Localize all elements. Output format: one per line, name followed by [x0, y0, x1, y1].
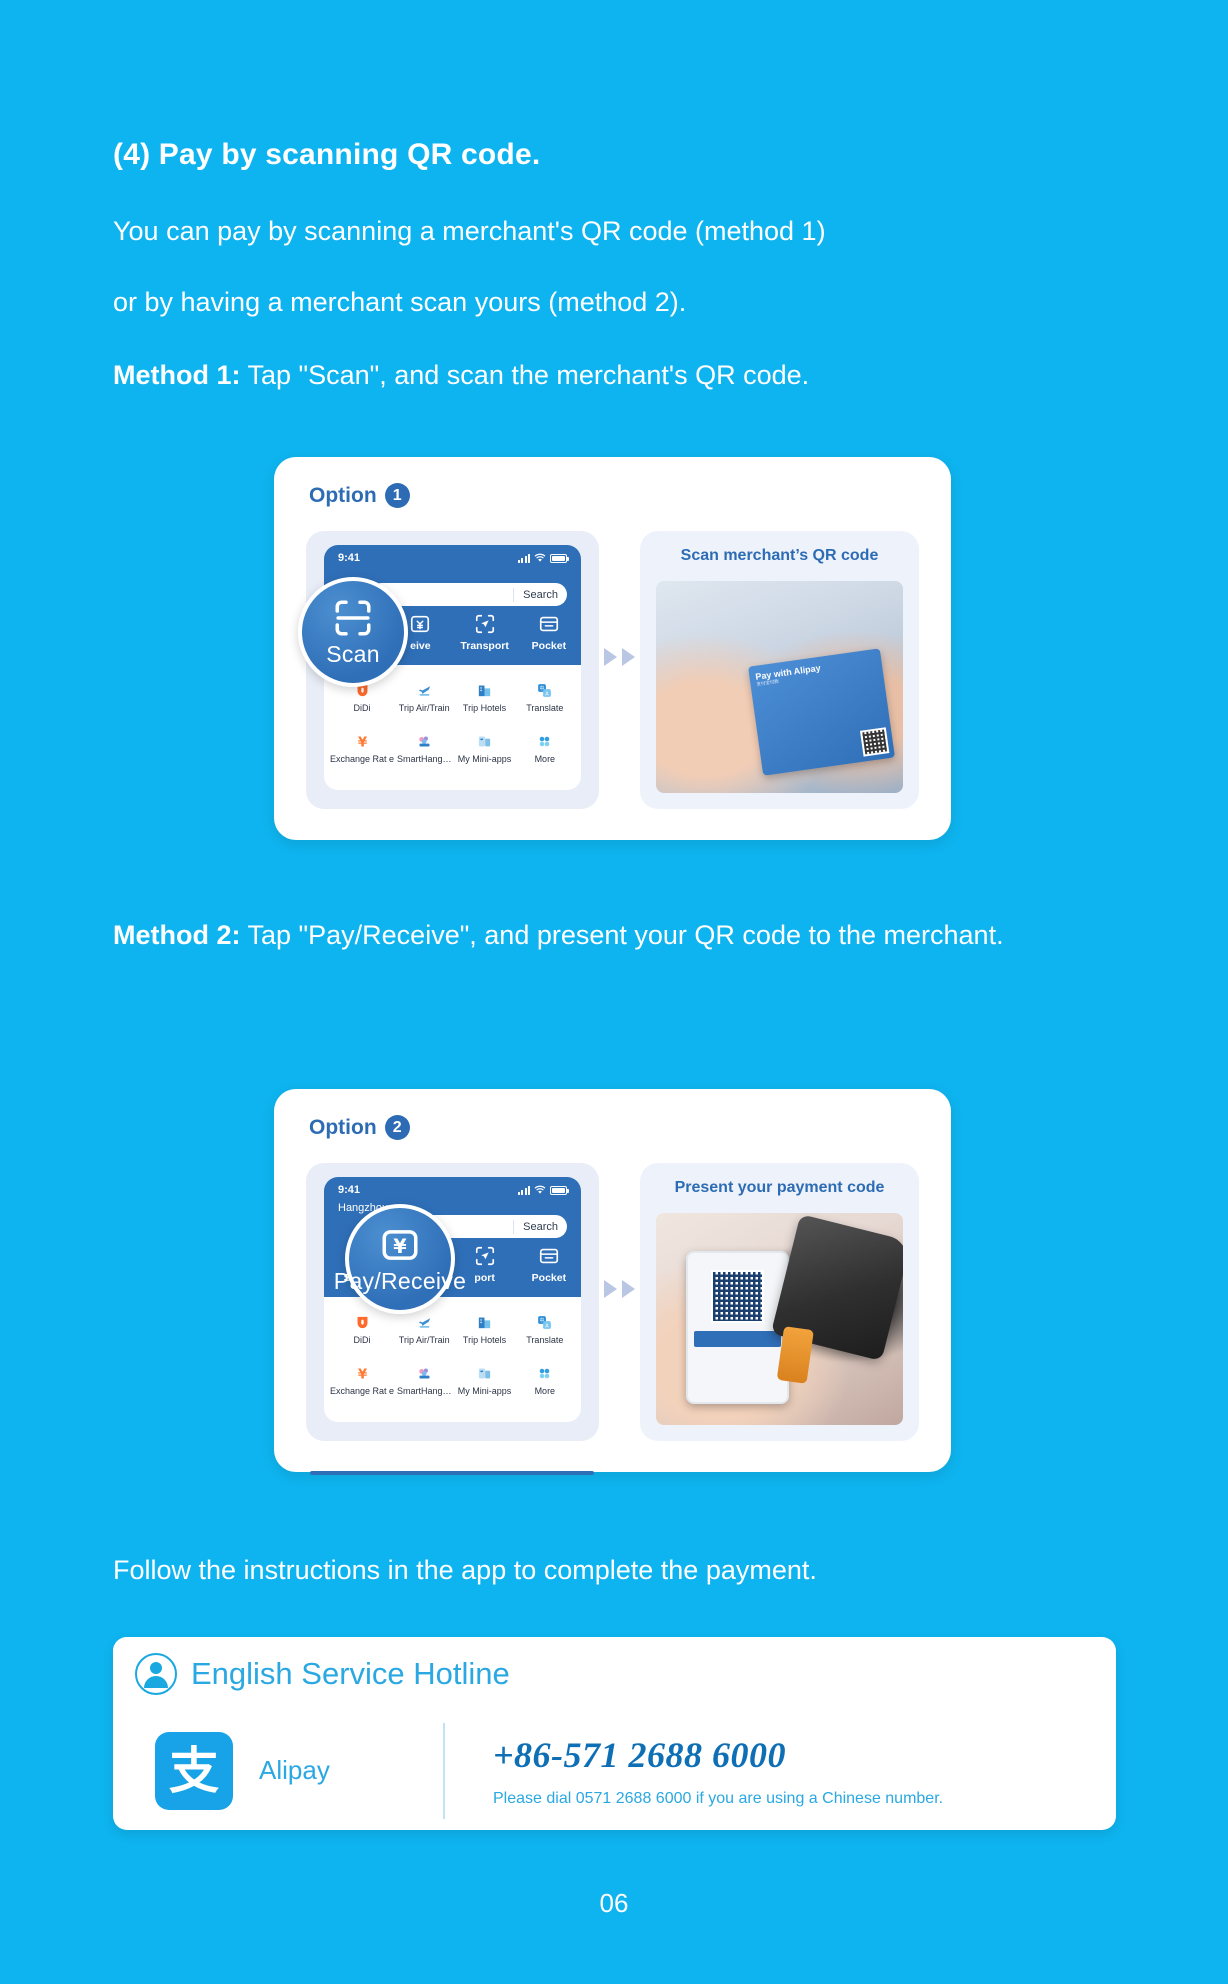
- barcode-scanner-icon: [771, 1214, 903, 1361]
- option2-pay-receive-bubble[interactable]: ¥ Pay/Receive: [345, 1204, 455, 1314]
- intro-line-2: or by having a merchant scan yours (meth…: [113, 267, 1118, 338]
- option2-badge: 2: [385, 1115, 410, 1140]
- wifi-icon: [534, 553, 546, 563]
- option2-label: Option: [309, 1116, 377, 1140]
- hotline-brand-group: 支 Alipay: [113, 1732, 443, 1810]
- battery-icon: [550, 1186, 567, 1195]
- signal-icon: [518, 1186, 531, 1195]
- alipay-brand-label: Alipay: [259, 1755, 330, 1786]
- intro-paragraph: You can pay by scanning a merchant's QR …: [113, 196, 1118, 338]
- trip-hotels-icon: [476, 1314, 493, 1331]
- app-exchange-rate[interactable]: ¥ Exchange Rat e: [330, 1365, 394, 1414]
- option2-app-grid: DiDi Trip Air/Train: [324, 1305, 581, 1422]
- transport-icon: [474, 613, 496, 635]
- arrow-right-icon: [604, 1280, 617, 1298]
- app-my-mini-apps-label: My Mini-apps: [458, 1386, 512, 1396]
- pocket-icon: [538, 1245, 560, 1267]
- svg-text:中: 中: [540, 685, 545, 692]
- app-trip-air-train-label: Trip Air/Train: [399, 1335, 450, 1345]
- option1-scan-bubble[interactable]: Scan: [298, 577, 408, 687]
- option2-photo-panel: Present your payment code: [640, 1163, 919, 1441]
- option1-app-grid: DiDi Trip Air/Train: [324, 673, 581, 790]
- payment-phone-bar: [694, 1331, 782, 1347]
- option1-label: Option: [309, 484, 377, 508]
- app-trip-air-train[interactable]: Trip Air/Train: [394, 1314, 454, 1363]
- svg-text:¥: ¥: [357, 1367, 367, 1382]
- quick-action-transport[interactable]: Transport: [453, 613, 517, 652]
- app-more[interactable]: More: [515, 1365, 575, 1414]
- option2-search-label: Search: [513, 1220, 567, 1234]
- hotline-header: English Service Hotline: [113, 1637, 550, 1711]
- hotline-title: English Service Hotline: [191, 1656, 510, 1692]
- app-exchange-rate-label: Exchange Rat e: [330, 1386, 394, 1396]
- pay-receive-icon: ¥: [379, 1224, 421, 1266]
- hotline-body: 支 Alipay +86-571 2688 6000 Please dial 0…: [113, 1711, 1116, 1830]
- hotline-contact-group: +86-571 2688 6000 Please dial 0571 2688 …: [445, 1734, 943, 1808]
- app-trip-air-train-label: Trip Air/Train: [399, 703, 450, 713]
- svg-text:¥: ¥: [357, 735, 367, 750]
- option2-label-group: Option 2: [309, 1115, 410, 1140]
- didi-icon: [354, 1314, 371, 1331]
- smarthangzhou-icon: [416, 733, 433, 750]
- app-smarthangzhou-label: SmartHang…: [397, 1386, 452, 1396]
- method2-paragraph: Method 2: Tap "Pay/Receive", and present…: [113, 900, 1116, 971]
- svg-text:¥: ¥: [393, 1234, 407, 1257]
- option1-flow-arrows: [604, 648, 635, 666]
- battery-icon: [550, 554, 567, 563]
- method2-text: Tap "Pay/Receive", and present your QR c…: [241, 920, 1004, 950]
- hotline-note: Please dial 0571 2688 6000 if you are us…: [493, 1790, 943, 1808]
- quick-action-pocket-label: Pocket: [532, 1272, 566, 1284]
- quick-action-pocket[interactable]: Pocket: [517, 1245, 581, 1284]
- payment-qr-icon: [711, 1270, 764, 1323]
- more-icon: [536, 733, 553, 750]
- option1-photo: Pay with Alipay 支付宝付款: [656, 581, 903, 793]
- translate-icon: 中 A: [536, 682, 553, 699]
- app-trip-hotels-label: Trip Hotels: [463, 703, 506, 713]
- method1-label: Method 1:: [113, 360, 241, 390]
- option1-label-group: Option 1: [309, 483, 410, 508]
- option2-status-time: 9:41: [338, 1184, 360, 1196]
- signal-icon: [518, 554, 531, 563]
- method2-label: Method 2:: [113, 920, 241, 950]
- my-mini-apps-icon: [476, 733, 493, 750]
- app-translate-label: Translate: [526, 1335, 563, 1345]
- wifi-icon: [534, 1185, 546, 1195]
- svg-text:中: 中: [540, 1317, 545, 1324]
- app-trip-hotels[interactable]: Trip Hotels: [454, 1314, 514, 1363]
- closing-paragraph: Follow the instructions in the app to co…: [113, 1535, 1118, 1606]
- app-trip-air-train[interactable]: Trip Air/Train: [394, 682, 454, 731]
- app-exchange-rate[interactable]: ¥ Exchange Rat e: [330, 733, 394, 782]
- app-translate[interactable]: 中 A Translate: [515, 1314, 575, 1363]
- quick-action-pay-receive-label: eive: [410, 640, 430, 652]
- app-exchange-rate-label: Exchange Rat e: [330, 754, 394, 764]
- qr-code-icon: [860, 728, 889, 757]
- app-translate-label: Translate: [526, 703, 563, 713]
- app-didi-label: DiDi: [354, 1335, 371, 1345]
- quick-action-pocket[interactable]: Pocket: [517, 613, 581, 652]
- scan-icon: [332, 597, 374, 639]
- option2-underline: [310, 1471, 594, 1475]
- app-more-label: More: [535, 754, 556, 764]
- intro-line-1: You can pay by scanning a merchant's QR …: [113, 196, 1118, 267]
- option1-status-icons: [518, 553, 568, 563]
- option2-status-icons: [518, 1185, 568, 1195]
- option1-bubble-label: Scan: [326, 641, 380, 668]
- option1-photo-panel: Scan merchant’s QR code Pay with Alipay …: [640, 531, 919, 809]
- option2-location-row[interactable]: Hangzhou ▾: [324, 1196, 581, 1214]
- more-icon: [536, 1365, 553, 1382]
- arrow-right-icon: [622, 648, 635, 666]
- app-my-mini-apps[interactable]: My Mini-apps: [454, 1365, 514, 1414]
- page-number: 06: [0, 1888, 1228, 1919]
- app-smarthangzhou[interactable]: SmartHang…: [394, 1365, 454, 1414]
- trip-air-train-icon: [416, 682, 433, 699]
- app-trip-hotels[interactable]: Trip Hotels: [454, 682, 514, 731]
- quick-action-pocket-label: Pocket: [532, 640, 566, 652]
- option2-photo: [656, 1213, 903, 1425]
- option1-search-label: Search: [513, 588, 567, 602]
- option1-photo-title: Scan merchant’s QR code: [640, 531, 919, 565]
- my-mini-apps-icon: [476, 1365, 493, 1382]
- app-trip-hotels-label: Trip Hotels: [463, 1335, 506, 1345]
- app-more-label: More: [535, 1386, 556, 1396]
- option2-bubble-label: Pay/Receive: [334, 1268, 466, 1295]
- quick-action-transport-label: port: [474, 1272, 494, 1284]
- hotline-card: English Service Hotline 支 Alipay +86-571…: [113, 1637, 1116, 1830]
- merchant-qr-card: Pay with Alipay 支付宝付款: [748, 649, 895, 777]
- smarthangzhou-icon: [416, 1365, 433, 1382]
- option2-phone-panel: 9:41 Hangzhou ▾: [306, 1163, 599, 1441]
- hotline-phone-number[interactable]: +86-571 2688 6000: [493, 1734, 943, 1776]
- app-smarthangzhou-label: SmartHang…: [397, 754, 452, 764]
- app-translate[interactable]: 中 A Translate: [515, 682, 575, 731]
- arrow-right-icon: [604, 648, 617, 666]
- pay-receive-icon: [409, 613, 431, 635]
- operator-avatar-icon: [135, 1653, 177, 1695]
- translate-icon: 中 A: [536, 1314, 553, 1331]
- transport-icon: [474, 1245, 496, 1267]
- app-my-mini-apps-label: My Mini-apps: [458, 754, 512, 764]
- exchange-rate-icon: ¥: [354, 733, 371, 750]
- pocket-icon: [538, 613, 560, 635]
- option1-status-time: 9:41: [338, 552, 360, 564]
- alipay-logo-icon: 支: [155, 1732, 233, 1810]
- option1-badge: 1: [385, 483, 410, 508]
- page: (4) Pay by scanning QR code. You can pay…: [0, 0, 1228, 1984]
- section-heading: (4) Pay by scanning QR code.: [113, 138, 540, 172]
- method1-paragraph: Method 1: Tap "Scan", and scan the merch…: [113, 340, 1118, 411]
- trip-air-train-icon: [416, 1314, 433, 1331]
- option2-status-bar: 9:41: [324, 1177, 581, 1196]
- option2-flow-arrows: [604, 1280, 635, 1298]
- app-my-mini-apps[interactable]: My Mini-apps: [454, 733, 514, 782]
- app-didi-label: DiDi: [354, 703, 371, 713]
- app-smarthangzhou[interactable]: SmartHang…: [394, 733, 454, 782]
- app-more[interactable]: More: [515, 733, 575, 782]
- trip-hotels-icon: [476, 682, 493, 699]
- arrow-right-icon: [622, 1280, 635, 1298]
- method1-text: Tap "Scan", and scan the merchant's QR c…: [241, 360, 810, 390]
- option1-status-bar: 9:41: [324, 545, 581, 564]
- app-didi[interactable]: DiDi: [330, 1314, 394, 1363]
- exchange-rate-icon: ¥: [354, 1365, 371, 1382]
- option2-photo-title: Present your payment code: [640, 1163, 919, 1197]
- app-didi[interactable]: DiDi: [330, 682, 394, 731]
- quick-action-transport-label: Transport: [460, 640, 508, 652]
